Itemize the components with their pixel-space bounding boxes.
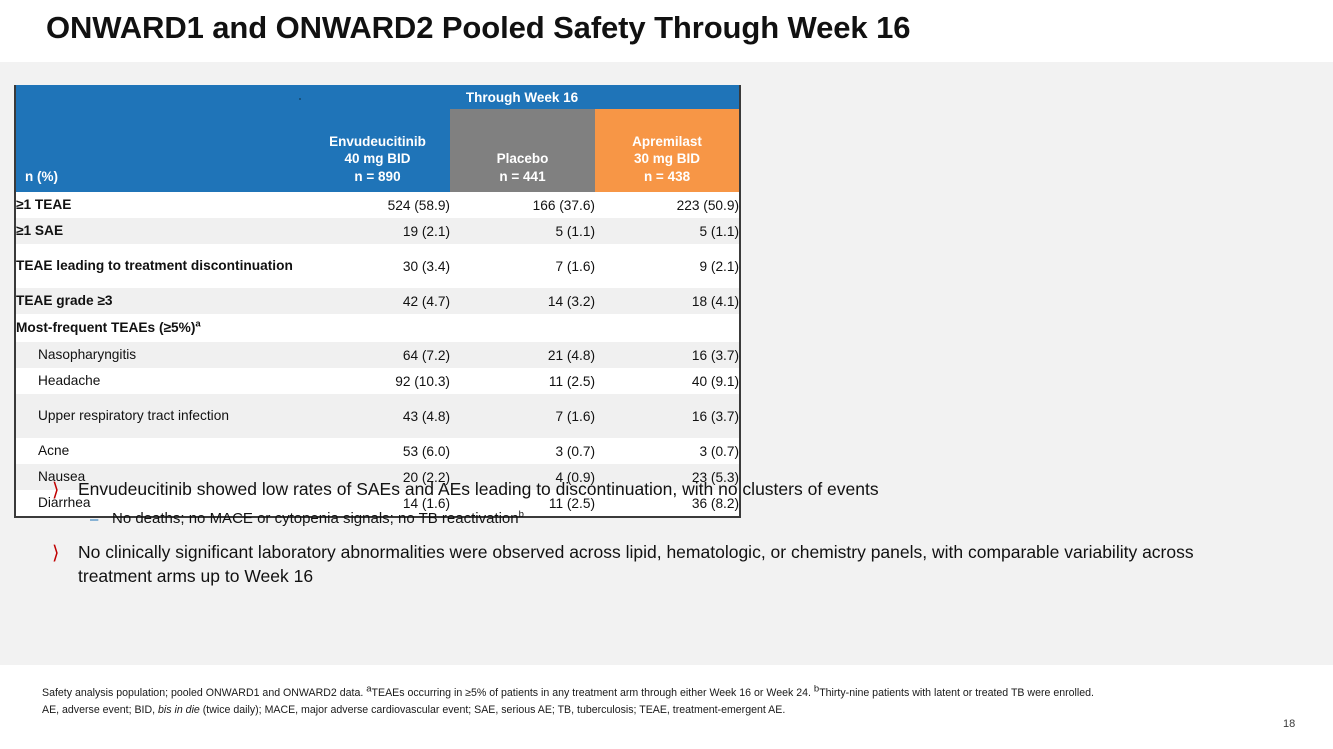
- row-value-col2: 5 (1.1): [450, 218, 595, 244]
- header-stub-label: n (%): [15, 109, 305, 192]
- table-row: TEAE grade ≥342 (4.7)14 (3.2)18 (4.1): [15, 288, 740, 314]
- arm-n: n = 441: [459, 168, 586, 186]
- abbrev-text-a: AE, adverse event; BID,: [42, 704, 158, 716]
- header-arm-placebo: Placebo n = 441: [450, 109, 595, 192]
- en-dash-icon: –: [90, 509, 112, 531]
- header-through-week: Through Week 16: [305, 85, 740, 109]
- row-value-col1: 19 (2.1): [305, 218, 450, 244]
- row-value-col3: 40 (9.1): [595, 368, 740, 394]
- arm-dose: 30 mg BID: [604, 150, 730, 168]
- table-header-arms-row: n (%) Envudeucitinib 40 mg BID n = 890 P…: [15, 109, 740, 192]
- row-value-col3: 16 (3.7): [595, 394, 740, 438]
- table-header-span-row: Through Week 16: [15, 85, 740, 109]
- sub-bullet-superscript: b: [519, 509, 524, 520]
- arm-n: n = 438: [604, 168, 730, 186]
- row-label: Acne: [15, 438, 305, 464]
- bullet-text: No clinically significant laboratory abn…: [78, 541, 1268, 589]
- sub-bullet-text: No deaths; no MACE or cytopenia signals;…: [112, 509, 524, 529]
- row-label: Most-frequent TEAEs (≥5%)a: [15, 314, 305, 342]
- row-value-col2: 7 (1.6): [450, 244, 595, 288]
- table-row: Upper respiratory tract infection43 (4.8…: [15, 394, 740, 438]
- arm-name: Placebo: [459, 150, 586, 168]
- slide: ONWARD1 and ONWARD2 Pooled Safety Throug…: [0, 0, 1333, 749]
- table-row: Headache92 (10.3)11 (2.5)40 (9.1): [15, 368, 740, 394]
- bullet-text: Envudeucitinib showed low rates of SAEs …: [78, 478, 879, 502]
- row-value-col3: 5 (1.1): [595, 218, 740, 244]
- row-value-col3: 3 (0.7): [595, 438, 740, 464]
- row-label: TEAE leading to treatment discontinuatio…: [15, 244, 305, 288]
- row-value-col1: 64 (7.2): [305, 342, 450, 368]
- row-value-col1: 43 (4.8): [305, 394, 450, 438]
- table-row: Nasopharyngitis64 (7.2)21 (4.8)16 (3.7): [15, 342, 740, 368]
- arm-name: Envudeucitinib: [314, 133, 441, 151]
- row-value-col2: [450, 314, 595, 342]
- page-title: ONWARD1 and ONWARD2 Pooled Safety Throug…: [46, 10, 910, 46]
- title-band: ONWARD1 and ONWARD2 Pooled Safety Throug…: [0, 0, 1333, 62]
- row-label: TEAE grade ≥3: [15, 288, 305, 314]
- row-value-col1: 92 (10.3): [305, 368, 450, 394]
- table-row: Acne53 (6.0)3 (0.7)3 (0.7): [15, 438, 740, 464]
- footnote-text-b: TEAEs occurring in ≥5% of patients in an…: [372, 687, 814, 699]
- artifact-dot-icon: [299, 98, 301, 100]
- row-value-col1: [305, 314, 450, 342]
- row-value-col1: 30 (3.4): [305, 244, 450, 288]
- row-value-col3: 9 (2.1): [595, 244, 740, 288]
- row-value-col2: 11 (2.5): [450, 368, 595, 394]
- row-label: Nasopharyngitis: [15, 342, 305, 368]
- chevron-right-icon: ⟩: [52, 478, 78, 503]
- chevron-right-icon: ⟩: [52, 541, 78, 566]
- table-row: Most-frequent TEAEs (≥5%)a: [15, 314, 740, 342]
- header-arm-envudeucitinib: Envudeucitinib 40 mg BID n = 890: [305, 109, 450, 192]
- abbrev-text-b: (twice daily); MACE, major adverse cardi…: [200, 704, 785, 716]
- arm-name: Apremilast: [604, 133, 730, 151]
- row-value-col3: 223 (50.9): [595, 192, 740, 218]
- row-value-col2: 14 (3.2): [450, 288, 595, 314]
- row-value-col3: 18 (4.1): [595, 288, 740, 314]
- table-head: Through Week 16 n (%) Envudeucitinib 40 …: [15, 85, 740, 192]
- row-value-col1: 53 (6.0): [305, 438, 450, 464]
- bullet-item: ⟩ Envudeucitinib showed low rates of SAE…: [52, 478, 1292, 503]
- row-value-col3: [595, 314, 740, 342]
- arm-dose: 40 mg BID: [314, 150, 441, 168]
- header-arm-apremilast: Apremilast 30 mg BID n = 438: [595, 109, 740, 192]
- safety-table-container: Through Week 16 n (%) Envudeucitinib 40 …: [14, 85, 740, 518]
- header-spacer-cell: [15, 85, 305, 109]
- row-label: ≥1 TEAE: [15, 192, 305, 218]
- table-body: ≥1 TEAE524 (58.9)166 (37.6)223 (50.9)≥1 …: [15, 192, 740, 517]
- row-value-col2: 3 (0.7): [450, 438, 595, 464]
- abbrev-italic: bis in die: [158, 704, 200, 716]
- row-value-col1: 42 (4.7): [305, 288, 450, 314]
- bullet-item: ⟩ No clinically significant laboratory a…: [52, 541, 1292, 589]
- row-label: Upper respiratory tract infection: [15, 394, 305, 438]
- row-label: ≥1 SAE: [15, 218, 305, 244]
- row-label: Headache: [15, 368, 305, 394]
- table-row: ≥1 SAE19 (2.1)5 (1.1)5 (1.1): [15, 218, 740, 244]
- safety-table: Through Week 16 n (%) Envudeucitinib 40 …: [14, 85, 741, 518]
- sub-bullet-body: No deaths; no MACE or cytopenia signals;…: [112, 510, 519, 527]
- footnote-text-c: Thirty-nine patients with latent or trea…: [819, 687, 1094, 699]
- table-row: ≥1 TEAE524 (58.9)166 (37.6)223 (50.9): [15, 192, 740, 218]
- row-value-col1: 524 (58.9): [305, 192, 450, 218]
- sub-bullet-item: – No deaths; no MACE or cytopenia signal…: [90, 509, 1292, 531]
- row-value-col2: 21 (4.8): [450, 342, 595, 368]
- footnotes: Safety analysis population; pooled ONWAR…: [42, 687, 1257, 718]
- slide-number: 18: [1283, 718, 1295, 730]
- footnote-text-a: Safety analysis population; pooled ONWAR…: [42, 687, 366, 699]
- row-value-col3: 16 (3.7): [595, 342, 740, 368]
- footnote-abbreviations: AE, adverse event; BID, bis in die (twic…: [42, 704, 1257, 718]
- bullet-list: ⟩ Envudeucitinib showed low rates of SAE…: [52, 478, 1292, 595]
- arm-n: n = 890: [314, 168, 441, 186]
- row-value-col2: 7 (1.6): [450, 394, 595, 438]
- table-row: TEAE leading to treatment discontinuatio…: [15, 244, 740, 288]
- footnote-line-1: Safety analysis population; pooled ONWAR…: [42, 687, 1257, 701]
- row-label-superscript: a: [195, 319, 200, 330]
- row-value-col2: 166 (37.6): [450, 192, 595, 218]
